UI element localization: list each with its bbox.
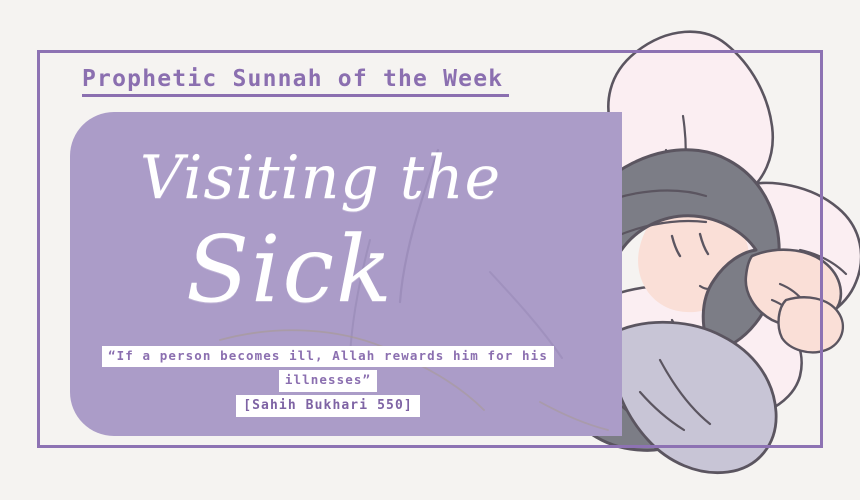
poster-canvas: Prophetic Sunnah of the Week Visiting th…: [0, 0, 860, 500]
quote-line-1: “If a person becomes ill, Allah rewards …: [102, 346, 554, 367]
hadith-quote-block: “If a person becomes ill, Allah rewards …: [88, 345, 568, 419]
page-title: Prophetic Sunnah of the Week: [82, 66, 503, 92]
quote-line-1-row: “If a person becomes ill, Allah rewards …: [88, 345, 568, 367]
quote-line-2: illnesses”: [279, 370, 377, 391]
quote-source-row: [Sahih Bukhari 550]: [88, 394, 568, 417]
headline-line-1: Visiting the: [140, 148, 501, 208]
headline-line-2: Sick: [186, 224, 394, 316]
page-title-text: Prophetic Sunnah of the Week: [82, 66, 503, 92]
quote-source: [Sahih Bukhari 550]: [236, 395, 420, 417]
hand-secondary-shape: [779, 297, 843, 352]
quote-line-2-row: illnesses”: [88, 369, 568, 391]
title-underline: [82, 94, 509, 97]
